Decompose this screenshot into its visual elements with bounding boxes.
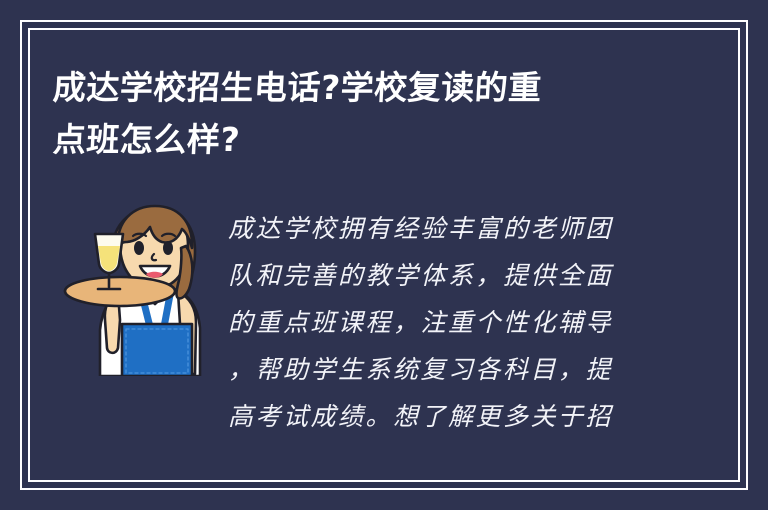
waitress-illustration: [60, 196, 222, 376]
apron: [122, 324, 192, 376]
title-line-2: 点班怎么样?: [52, 114, 695, 166]
body-paragraph: 成达学校拥有经验丰富的老师团 队和完善的教学体系，提供全面 的重点班课程，注重个…: [228, 205, 652, 440]
body-line-2: 队和完善的教学体系，提供全面: [228, 252, 652, 299]
eye-left: [134, 241, 144, 255]
title-line-1: 成达学校招生电话?学校复读的重: [52, 62, 695, 114]
page-title: 成达学校招生电话?学校复读的重 点班怎么样?: [53, 62, 693, 166]
body-line-3: 的重点班课程，注重个性化辅导: [228, 299, 652, 346]
poster-canvas: 成达学校招生电话?学校复读的重 点班怎么样?: [0, 0, 768, 510]
body-line-5: 高考试成绩。想了解更多关于招: [228, 393, 652, 440]
body-line-4: ，帮助学生系统复习各科目，提: [228, 346, 652, 393]
body-line-1: 成达学校拥有经验丰富的老师团: [228, 205, 652, 252]
eye-right: [163, 241, 173, 255]
